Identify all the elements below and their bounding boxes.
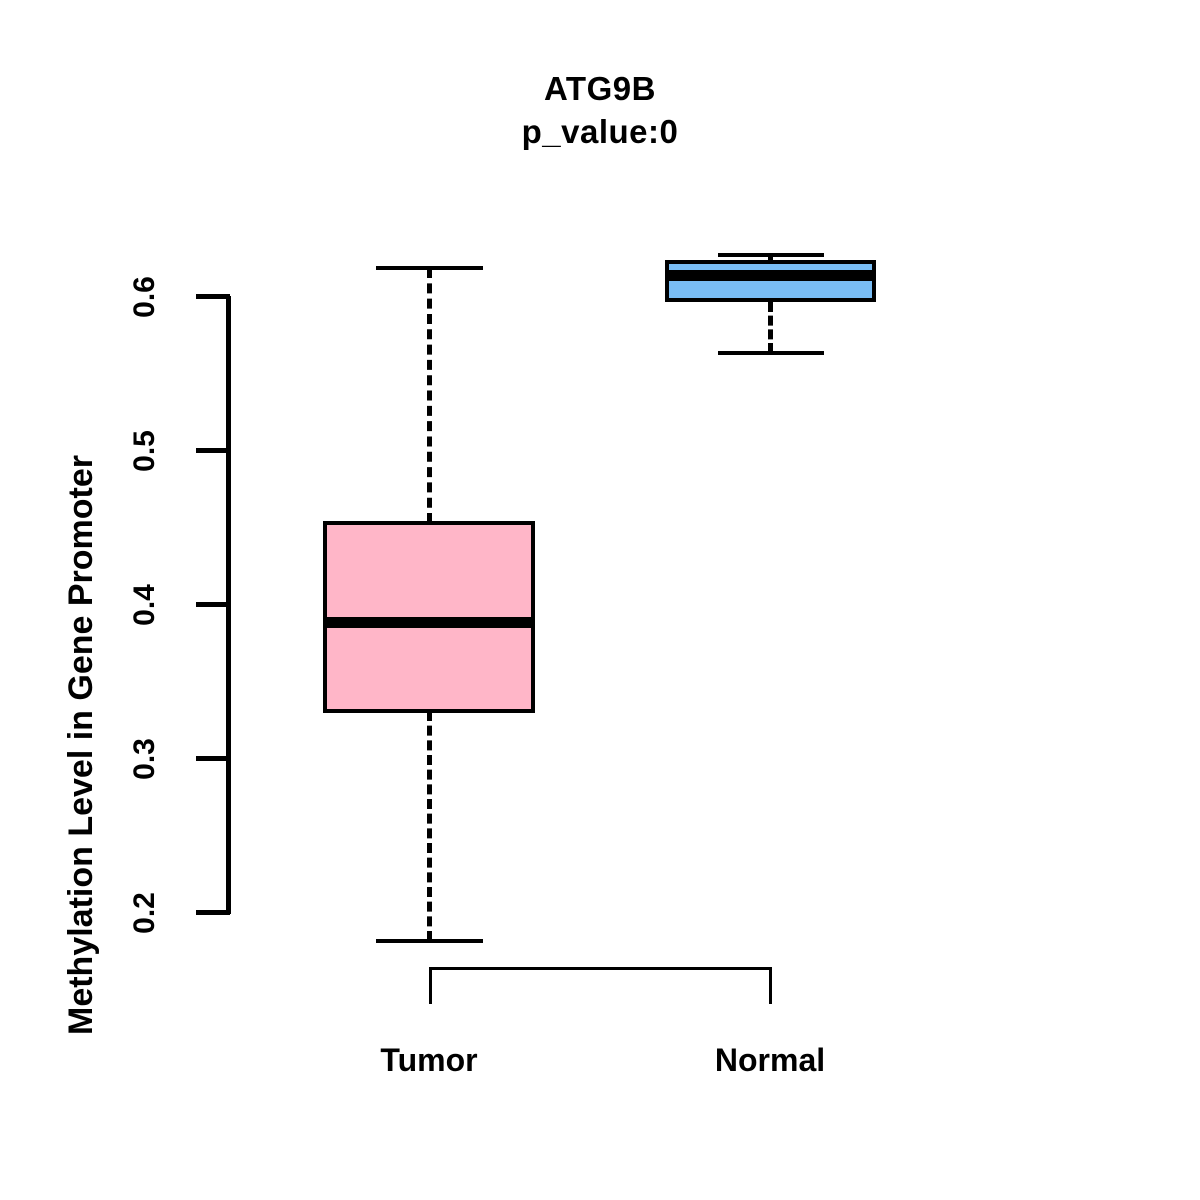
normal-whisker-lower	[768, 302, 773, 353]
normal-median-line	[665, 270, 876, 281]
group-bracket-left-arm	[429, 967, 432, 1004]
tumor-whisker-cap-lower	[376, 939, 483, 943]
y-axis-ticklabel-0.4: 0.4	[128, 570, 162, 640]
y-axis-ticklabel-0.5: 0.5	[128, 416, 162, 486]
normal-box	[665, 260, 876, 302]
group-bracket-top	[429, 967, 772, 970]
page-title: ATG9B	[0, 68, 1200, 110]
y-axis-tick-0.2	[196, 910, 230, 915]
y-axis-ticklabel-0.2: 0.2	[128, 878, 162, 948]
normal-whisker-cap-lower	[718, 351, 824, 355]
y-axis-tick-0.5	[196, 448, 230, 453]
y-axis-ticklabel-0.3: 0.3	[128, 724, 162, 794]
tumor-whisker-lower	[427, 711, 432, 941]
y-axis-tick-0.6	[196, 294, 230, 299]
tumor-whisker-upper	[427, 268, 432, 523]
y-axis-label: Methylation Level in Gene Promoter	[54, 35, 108, 1035]
x-axis-label-normal: Normal	[670, 1042, 870, 1079]
group-bracket-right-arm	[769, 967, 772, 1004]
y-axis-ticklabel-0.6: 0.6	[128, 262, 162, 332]
tumor-median-line	[323, 617, 535, 628]
chart-title-block: ATG9B p_value:0	[0, 68, 1200, 154]
x-axis-label-tumor: Tumor	[329, 1042, 529, 1079]
y-axis-tick-0.4	[196, 602, 230, 607]
boxplot-figure: ATG9B p_value:0 Methylation Level in Gen…	[0, 0, 1200, 1200]
chart-subtitle-pvalue: p_value:0	[0, 110, 1200, 154]
y-axis-tick-0.3	[196, 756, 230, 761]
